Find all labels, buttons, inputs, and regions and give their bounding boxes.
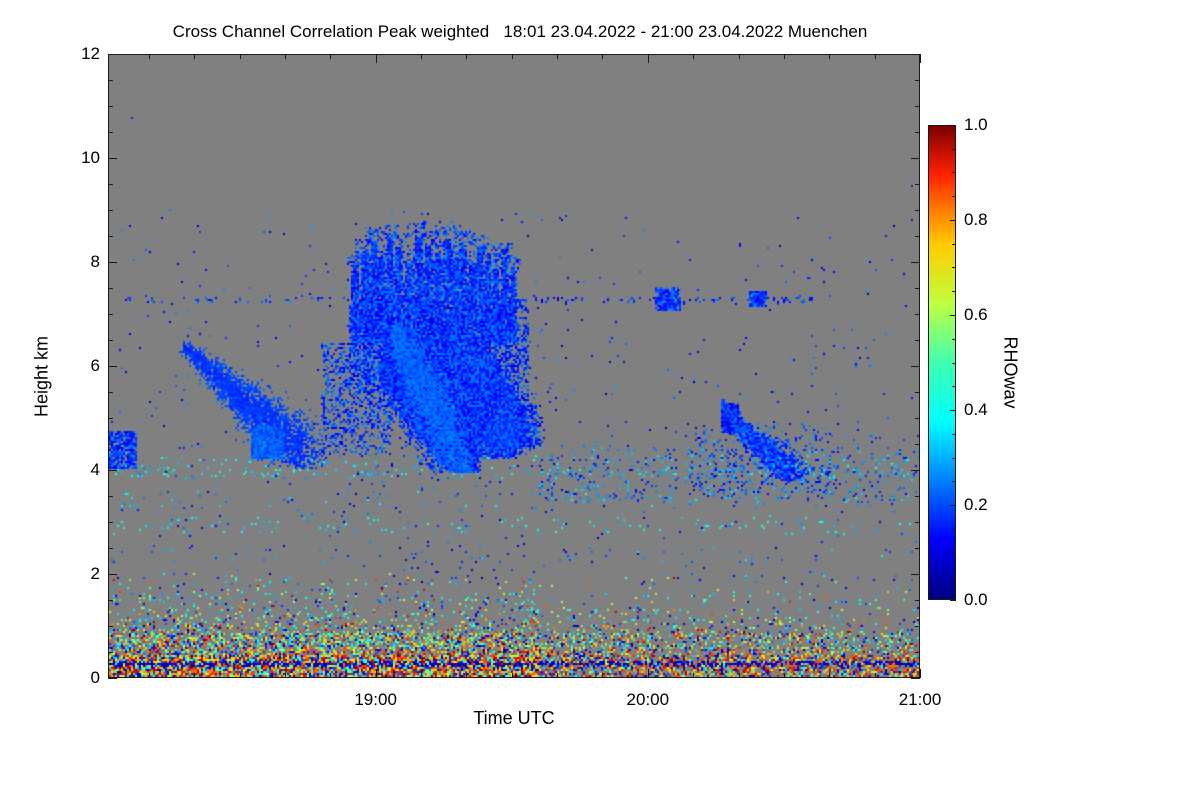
x-tick-top [512, 54, 513, 59]
x-minor-tick [285, 673, 286, 678]
y-major-tick [108, 470, 117, 471]
y-minor-tick [108, 626, 113, 627]
colorbar-major-tick [950, 505, 956, 506]
y-tick-right [915, 496, 920, 497]
x-axis-title: Time UTC [108, 708, 920, 729]
x-minor-tick [602, 673, 603, 678]
colorbar-minor-tick [952, 339, 956, 340]
y-tick-label: 6 [56, 356, 100, 376]
y-tick-right [911, 470, 920, 471]
x-minor-tick [557, 673, 558, 678]
y-axis-title: Height km [32, 317, 53, 437]
y-major-tick [108, 574, 117, 575]
x-tick-label: 20:00 [627, 690, 670, 710]
colorbar-minor-tick [952, 434, 956, 435]
y-minor-tick [108, 600, 113, 601]
y-major-tick [108, 158, 117, 159]
x-tick-top [739, 54, 740, 59]
y-tick-right [915, 626, 920, 627]
y-tick-right [915, 80, 920, 81]
x-minor-tick [875, 673, 876, 678]
x-minor-tick [829, 673, 830, 678]
x-tick-top [829, 54, 830, 59]
y-tick-right [915, 444, 920, 445]
y-tick-right [915, 314, 920, 315]
x-tick-top [330, 54, 331, 59]
colorbar-minor-tick [952, 386, 956, 387]
colorbar-minor-tick [952, 172, 956, 173]
y-minor-tick [108, 522, 113, 523]
heatmap-canvas [109, 55, 919, 677]
y-minor-tick [108, 444, 113, 445]
x-major-tick [376, 669, 377, 678]
colorbar-minor-tick [952, 458, 956, 459]
y-minor-tick [108, 418, 113, 419]
y-tick-right [915, 340, 920, 341]
x-tick-top [602, 54, 603, 59]
colorbar-minor-tick [952, 576, 956, 577]
x-tick-top [920, 54, 921, 63]
y-minor-tick [108, 548, 113, 549]
y-tick-label: 10 [56, 148, 100, 168]
y-minor-tick [108, 184, 113, 185]
x-tick-label: 19:00 [354, 690, 397, 710]
x-minor-tick [149, 673, 150, 678]
plot-area [108, 54, 920, 678]
colorbar-major-tick [950, 125, 956, 126]
y-minor-tick [108, 314, 113, 315]
x-tick-top [285, 54, 286, 59]
x-tick-top [194, 54, 195, 59]
x-tick-top [421, 54, 422, 59]
y-major-tick [108, 262, 117, 263]
x-tick-top [648, 54, 649, 63]
x-tick-top [376, 54, 377, 63]
colorbar-tick-label: 0.4 [964, 400, 988, 420]
x-minor-tick [330, 673, 331, 678]
x-minor-tick [421, 673, 422, 678]
y-tick-right [911, 678, 920, 679]
y-minor-tick [108, 288, 113, 289]
colorbar-minor-tick [952, 244, 956, 245]
y-tick-right [911, 158, 920, 159]
colorbar-tick-label: 0.0 [964, 590, 988, 610]
y-tick-right [911, 366, 920, 367]
x-major-tick [920, 669, 921, 678]
x-tick-top [557, 54, 558, 59]
x-minor-tick [240, 673, 241, 678]
x-tick-top [875, 54, 876, 59]
x-minor-tick [693, 673, 694, 678]
page-title: Cross Channel Correlation Peak weighted … [0, 22, 1040, 42]
y-tick-label: 8 [56, 252, 100, 272]
colorbar-minor-tick [952, 196, 956, 197]
colorbar-title: RHOwav [1000, 293, 1021, 453]
y-minor-tick [108, 210, 113, 211]
y-tick-right [911, 54, 920, 55]
colorbar-tick-label: 0.8 [964, 210, 988, 230]
y-tick-right [915, 418, 920, 419]
y-tick-label: 4 [56, 460, 100, 480]
y-tick-right [915, 184, 920, 185]
colorbar-tick-label: 0.2 [964, 495, 988, 515]
colorbar-minor-tick [952, 481, 956, 482]
colorbar-major-tick [950, 600, 956, 601]
y-tick-label: 2 [56, 564, 100, 584]
y-major-tick [108, 678, 117, 679]
y-tick-right [915, 236, 920, 237]
x-tick-top [693, 54, 694, 59]
y-minor-tick [108, 652, 113, 653]
y-minor-tick [108, 392, 113, 393]
x-minor-tick [466, 673, 467, 678]
y-tick-right [915, 652, 920, 653]
y-tick-right [915, 210, 920, 211]
y-tick-right [915, 522, 920, 523]
y-minor-tick [108, 132, 113, 133]
colorbar-tick-label: 0.6 [964, 305, 988, 325]
y-tick-right [911, 262, 920, 263]
colorbar-major-tick [950, 410, 956, 411]
y-tick-right [911, 574, 920, 575]
x-minor-tick [784, 673, 785, 678]
y-tick-label: 12 [56, 44, 100, 64]
colorbar-major-tick [950, 315, 956, 316]
y-minor-tick [108, 80, 113, 81]
colorbar-minor-tick [952, 291, 956, 292]
y-major-tick [108, 366, 117, 367]
colorbar-minor-tick [952, 363, 956, 364]
x-minor-tick [512, 673, 513, 678]
colorbar-tick-label: 1.0 [964, 115, 988, 135]
x-tick-top [240, 54, 241, 59]
x-tick-top [784, 54, 785, 59]
y-tick-right [915, 106, 920, 107]
y-minor-tick [108, 340, 113, 341]
y-minor-tick [108, 236, 113, 237]
colorbar-major-tick [950, 220, 956, 221]
x-tick-top [466, 54, 467, 59]
y-tick-right [915, 132, 920, 133]
y-tick-right [915, 600, 920, 601]
x-tick-top [149, 54, 150, 59]
y-tick-right [915, 392, 920, 393]
radar-quicklook-figure: Cross Channel Correlation Peak weighted … [0, 0, 1200, 800]
y-tick-label: 0 [56, 668, 100, 688]
x-major-tick [648, 669, 649, 678]
x-tick-label: 21:00 [899, 690, 942, 710]
x-minor-tick [194, 673, 195, 678]
colorbar-minor-tick [952, 529, 956, 530]
y-tick-right [915, 288, 920, 289]
y-minor-tick [108, 496, 113, 497]
colorbar-minor-tick [952, 149, 956, 150]
y-minor-tick [108, 106, 113, 107]
colorbar-minor-tick [952, 553, 956, 554]
x-minor-tick [739, 673, 740, 678]
y-major-tick [108, 54, 117, 55]
colorbar-minor-tick [952, 267, 956, 268]
y-tick-right [915, 548, 920, 549]
